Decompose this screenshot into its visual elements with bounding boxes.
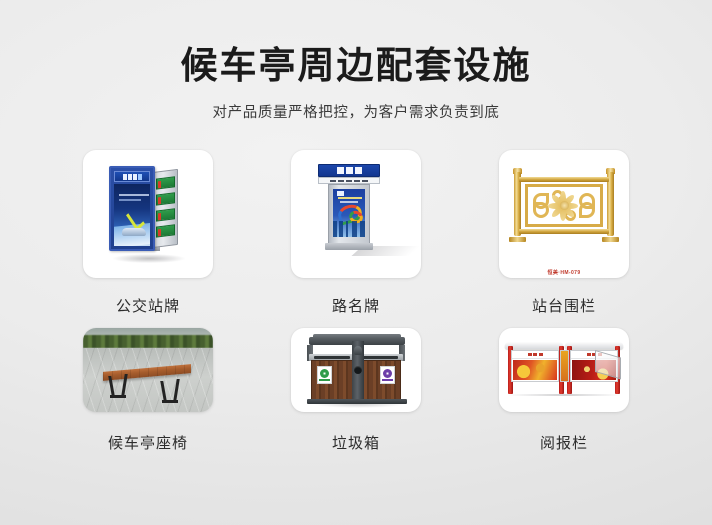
fence-watermark: 恒美·HM-079 [547,269,580,276]
product-cell-bus-stop-sign[interactable]: 公交站牌 [83,150,213,316]
product-card-platform-fence[interactable]: 恒美·HM-079 [499,150,629,278]
product-row-2: 候车亭座椅 [0,328,712,453]
shelter-bench-image [83,328,213,412]
product-label-street-name-sign: 路名牌 [291,295,421,316]
product-card-trash-bin[interactable] [291,328,421,412]
page-subtitle: 对产品质量严格把控，为客户需求负责到底 [0,101,712,122]
product-label-trash-bin: 垃圾箱 [291,432,421,453]
product-card-shelter-bench[interactable] [83,328,213,412]
product-label-newspaper-board: 阅报栏 [499,432,629,453]
product-label-shelter-bench: 候车亭座椅 [83,432,213,453]
page-header: 候车亭周边配套设施 对产品质量严格把控，为客户需求负责到底 [0,0,712,122]
bus-stop-sign-image [83,150,213,278]
product-label-platform-fence: 站台围栏 [499,295,629,316]
page-title: 候车亭周边配套设施 [0,46,712,87]
product-cell-newspaper-board[interactable]: 阅报栏 [499,328,629,453]
product-cell-trash-bin[interactable]: 垃圾箱 [291,328,421,453]
trash-bin-image [291,328,421,412]
product-card-street-name-sign[interactable] [291,150,421,278]
product-cell-shelter-bench[interactable]: 候车亭座椅 [83,328,213,453]
street-name-sign-image [291,150,421,278]
product-label-bus-stop-sign: 公交站牌 [83,295,213,316]
newspaper-board-image [499,328,629,412]
platform-fence-image: 恒美·HM-079 [499,150,629,278]
product-cell-platform-fence[interactable]: 恒美·HM-079 站台围栏 [499,150,629,316]
product-grid: 公交站牌 [0,150,712,453]
product-cell-street-name-sign[interactable]: 路名牌 [291,150,421,316]
product-row-1: 公交站牌 [0,150,712,316]
product-card-newspaper-board[interactable] [499,328,629,412]
product-card-bus-stop-sign[interactable] [83,150,213,278]
